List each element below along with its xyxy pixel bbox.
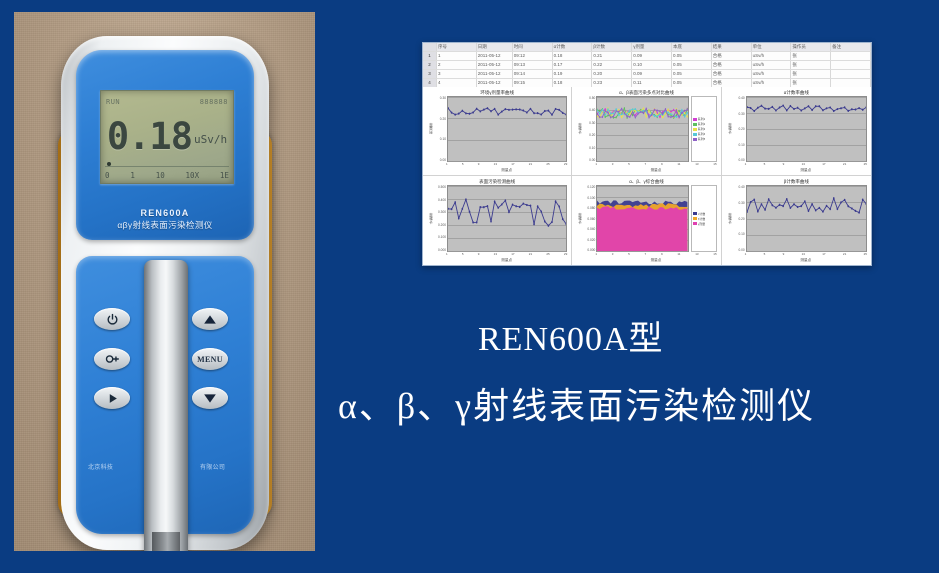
spreadsheet-header-cell: 日期 — [477, 43, 513, 51]
chart-data-point — [627, 115, 628, 117]
chart-data-point — [610, 116, 611, 118]
search-button[interactable] — [94, 348, 130, 370]
lcd-scale-tick: 1 — [130, 171, 135, 180]
chart-data-point — [472, 221, 474, 223]
chart-data-point — [662, 113, 663, 115]
spreadsheet-header-cell: γ剂量 — [632, 43, 672, 51]
chart-top-left[interactable]: 环境γ剂量率曲线剂量率0.300.200.100.001591317212529… — [423, 87, 572, 176]
chart-y-tick: 0.500 — [433, 185, 446, 189]
chart-x-axis-label: 测量点 — [726, 167, 867, 173]
chart-data-point — [649, 109, 650, 111]
chart-data-point — [843, 199, 845, 201]
chart-gridline — [747, 161, 866, 162]
chart-data-point — [825, 205, 827, 207]
chart-data-point — [854, 108, 856, 110]
chart-y-tick: 0.40 — [732, 185, 745, 189]
chart-data-point — [562, 218, 564, 220]
chart-y-tick: 0.10 — [582, 146, 595, 150]
chart-data-point — [775, 109, 777, 111]
chart-legend-label: γ剂量 — [698, 222, 706, 226]
spreadsheet-cell: uSv/h — [752, 70, 792, 78]
spreadsheet-cell: 合格 — [712, 70, 752, 78]
chart-data-point — [660, 110, 661, 112]
lcd-value: 0.18 — [107, 118, 192, 155]
chart-data-point — [684, 110, 685, 112]
chart-data-point — [753, 198, 755, 200]
chart-data-point — [822, 210, 824, 212]
chart-data-point — [454, 113, 456, 115]
spreadsheet-cell: 0.09 — [632, 52, 672, 60]
chart-data-point — [613, 112, 614, 114]
chart-data-point — [643, 109, 644, 111]
chart-data-point — [616, 108, 617, 110]
chart-data-point — [668, 115, 669, 117]
chart-x-axis-label: 测量点 — [576, 167, 716, 173]
power-button[interactable] — [94, 308, 130, 330]
chart-data-point — [458, 113, 460, 115]
device-handle-strip — [144, 260, 188, 551]
chart-data-point — [657, 109, 658, 111]
chart-data-point — [613, 115, 614, 117]
chart-y-tick: 0.300 — [433, 210, 446, 214]
chart-data-point — [825, 107, 827, 109]
chart-data-point — [605, 110, 606, 112]
spreadsheet-cell — [831, 79, 871, 87]
chart-y-tick: 0.30 — [433, 96, 446, 100]
power-icon — [106, 313, 119, 326]
chart-y-tick: 0.30 — [582, 121, 595, 125]
chart-data-point — [660, 113, 661, 115]
chart-legend-item: 系列4 — [693, 132, 715, 136]
chart-data-point — [472, 111, 474, 113]
spreadsheet-area: 序号日期时间α计数β计数γ剂量本底结果单位操作员备注112011-05-1209… — [423, 43, 871, 88]
chart-data-point — [836, 108, 838, 110]
chart-data-point — [602, 109, 603, 111]
chart-data-point — [665, 113, 666, 115]
chart-data-point — [757, 210, 759, 212]
chart-legend-label: 系列2 — [698, 122, 706, 126]
chart-legend-label: 系列3 — [698, 127, 706, 131]
spreadsheet-cell: 合格 — [712, 79, 752, 87]
chart-data-point — [512, 109, 514, 111]
chart-data-point — [822, 109, 824, 111]
menu-button[interactable]: MENU — [192, 348, 228, 370]
device-model-text: REN600A — [76, 208, 254, 218]
chart-y-ticks: 0.500.400.300.200.100.00 — [582, 96, 596, 162]
chart-y-tick: 0.40 — [732, 96, 745, 100]
chart-y-axis-label: 计数率 — [427, 185, 433, 252]
play-button[interactable] — [94, 387, 130, 409]
spreadsheet-row[interactable]: 222011-05-1209:130.170.220.100.05合格uSv/h… — [423, 61, 871, 70]
lcd-status-left: RUN — [106, 98, 120, 106]
chart-data-point — [682, 109, 683, 111]
chart-data-point — [632, 111, 633, 113]
lcd-status-bar: RUN 888888 — [106, 95, 228, 108]
spreadsheet-header-row[interactable]: 序号日期时间α计数β计数γ剂量本底结果单位操作员备注 — [423, 43, 871, 52]
chart-data-point — [621, 113, 622, 115]
chart-data-point — [505, 108, 507, 110]
spreadsheet-cell: 0.17 — [553, 61, 593, 69]
chart-y-ticks: 0.400.300.200.100.00 — [732, 96, 746, 162]
chart-data-point — [624, 112, 625, 114]
spreadsheet-header-cell: 操作员 — [791, 43, 831, 51]
chart-data-point — [836, 208, 838, 210]
spreadsheet-cell: 0.05 — [672, 52, 712, 60]
chart-data-point — [673, 109, 674, 111]
device-footer-left-text: 北京科技 — [88, 462, 113, 471]
spreadsheet-cell — [831, 61, 871, 69]
chart-data-point — [610, 112, 611, 114]
chart-data-point — [782, 104, 784, 106]
device-brand-print: REN600A αβγ射线表面污染检测仪 — [76, 208, 254, 231]
spreadsheet-cell: 09:13 — [513, 61, 553, 69]
chart-data-point — [749, 201, 751, 203]
chart-y-tick: 0.20 — [732, 127, 745, 131]
chart-data-point — [660, 116, 661, 118]
chart-bottom-middle[interactable]: α、β、γ综合曲线计数率0.1200.1000.0800.0600.0400.0… — [572, 176, 721, 265]
chart-legend-swatch — [693, 123, 697, 126]
spreadsheet-row[interactable]: 112011-05-1209:120.180.210.090.05合格uSv/h… — [423, 52, 871, 61]
down-button[interactable] — [192, 387, 228, 409]
chart-data-point — [505, 199, 507, 201]
chart-data-point — [764, 108, 766, 110]
chart-data-point — [508, 211, 510, 213]
chart-data-point — [526, 111, 528, 113]
chart-data-point — [462, 110, 464, 112]
triangle-up-icon — [203, 314, 217, 325]
chart-data-point — [624, 107, 625, 109]
chart-data-point — [469, 211, 471, 213]
chart-data-point — [512, 204, 514, 206]
chart-data-point — [789, 105, 791, 107]
chart-data-point — [483, 206, 485, 208]
chart-data-point — [487, 205, 489, 207]
spreadsheet-cell — [831, 52, 871, 60]
spreadsheet-header-cell: 备注 — [831, 43, 871, 51]
chart-y-axis-label: 计数率 — [726, 96, 732, 162]
spreadsheet-cell: 0.18 — [553, 52, 593, 60]
chart-data-point — [815, 209, 817, 211]
chart-data-point — [630, 116, 631, 118]
chart-legend: α计数β计数γ剂量 — [691, 185, 717, 252]
chart-legend-item: α计数 — [693, 212, 715, 216]
chart-body: 剂量率0.300.200.100.00 — [427, 96, 567, 162]
chart-plot-area — [596, 96, 688, 162]
up-button[interactable] — [192, 308, 228, 330]
chart-data-point — [793, 203, 795, 205]
chart-data-point — [851, 108, 853, 110]
chart-data-point — [501, 110, 503, 112]
charts-grid: 环境γ剂量率曲线剂量率0.300.200.100.001591317212529… — [423, 87, 871, 265]
chart-gridline — [597, 251, 687, 252]
spreadsheet-cell: 张 — [791, 79, 831, 87]
chart-data-point — [654, 109, 655, 111]
chart-legend-item: 系列3 — [693, 127, 715, 131]
chart-data-point — [608, 114, 609, 116]
chart-data-point — [829, 106, 831, 108]
chart-data-point — [476, 221, 478, 223]
spreadsheet-cell: 2011-05-12 — [477, 61, 513, 69]
chart-legend-item: 系列2 — [693, 122, 715, 126]
chart-data-point — [840, 107, 842, 109]
chart-legend-item: 系列1 — [693, 117, 715, 121]
chart-y-tick: 0.20 — [582, 133, 595, 137]
chart-y-tick: 0.30 — [732, 112, 745, 116]
title-block: REN600A型 α、β、γ射线表面污染检测仪 — [330, 318, 930, 434]
chart-data-point — [749, 107, 751, 109]
chart-gridline — [747, 251, 866, 252]
spreadsheet-cell: uSv/h — [752, 61, 792, 69]
chart-y-tick: 0.120 — [582, 185, 595, 189]
play-icon — [106, 392, 119, 405]
chart-data-point — [605, 116, 606, 118]
chart-legend: 系列1系列2系列3系列4系列5 — [691, 96, 717, 162]
lcd-scale-tick: 0 — [105, 171, 110, 180]
chart-data-point — [804, 107, 806, 109]
spreadsheet-cell: 0.19 — [553, 70, 593, 78]
chart-body: 计数率0.400.300.200.100.00 — [726, 96, 867, 162]
spreadsheet-header-cell: 序号 — [437, 43, 477, 51]
spreadsheet-cell: 0.05 — [672, 70, 712, 78]
chart-data-point — [646, 108, 647, 110]
spreadsheet-header-cell: α计数 — [553, 43, 593, 51]
chart-y-tick: 0.20 — [433, 117, 446, 121]
chart-data-point — [562, 112, 564, 114]
chart-legend-swatch — [693, 212, 697, 215]
chart-data-point — [654, 115, 655, 117]
chart-data-point — [548, 225, 550, 227]
chart-series-layer — [747, 186, 866, 251]
chart-data-point — [632, 108, 633, 110]
chart-data-point — [501, 203, 503, 205]
chart-data-point — [537, 205, 539, 207]
chart-data-point — [649, 116, 650, 118]
chart-data-point — [679, 110, 680, 112]
chart-data-point — [782, 205, 784, 207]
chart-data-point — [605, 114, 606, 116]
chart-y-tick: 0.020 — [582, 238, 595, 242]
chart-data-point — [851, 207, 853, 209]
chart-plot-area — [596, 185, 688, 252]
chart-legend-item: β计数 — [693, 217, 715, 221]
chart-data-point — [515, 205, 517, 207]
chart-y-tick: 0.080 — [582, 206, 595, 210]
chart-top-right[interactable]: α计数率曲线计数率0.400.300.200.100.0015913172125… — [722, 87, 871, 176]
chart-y-tick: 0.10 — [732, 143, 745, 147]
chart-data-point — [646, 116, 647, 118]
chart-plot-area — [447, 185, 567, 252]
chart-data-point — [847, 110, 849, 112]
chart-data-point — [760, 203, 762, 205]
chart-data-point — [519, 108, 521, 110]
chart-data-point — [476, 108, 478, 110]
chart-data-point — [682, 112, 683, 114]
chart-y-tick: 0.400 — [433, 198, 446, 202]
chart-data-point — [555, 200, 557, 202]
chart-series-layer — [747, 97, 866, 161]
chart-data-point — [800, 205, 802, 207]
chart-y-ticks: 0.5000.4000.3000.2000.1000.000 — [433, 185, 447, 252]
chart-data-point — [619, 114, 620, 116]
chart-legend-swatch — [693, 133, 697, 136]
chart-data-point — [616, 116, 617, 118]
chart-gridline — [597, 161, 687, 162]
spreadsheet-cell: 2011-05-12 — [477, 79, 513, 87]
chart-data-point — [599, 110, 600, 112]
product-description-title: α、β、γ射线表面污染检测仪 — [330, 378, 930, 434]
chart-data-point — [804, 200, 806, 202]
spreadsheet-header-cell: 单位 — [752, 43, 792, 51]
chart-data-point — [854, 210, 856, 212]
chart-data-point — [540, 113, 542, 115]
chart-data-point — [657, 115, 658, 117]
spreadsheet-row[interactable]: 332011-05-1209:140.190.200.090.05合格uSv/h… — [423, 70, 871, 79]
chart-data-point — [807, 105, 809, 107]
chart-y-tick: 0.10 — [433, 137, 446, 141]
chart-bottom-left[interactable]: 表面污染检测曲线计数率0.5000.4000.3000.2000.1000.00… — [423, 176, 572, 265]
chart-data-point — [638, 113, 639, 115]
chart-data-point — [448, 208, 449, 210]
spreadsheet-cell: 0.23 — [592, 79, 632, 87]
chart-data-point — [608, 111, 609, 113]
chart-area-series — [597, 206, 687, 251]
chart-data-point — [676, 116, 677, 118]
chart-data-point — [862, 109, 864, 111]
chart-data-point — [662, 116, 663, 118]
chart-data-point — [555, 108, 557, 110]
chart-data-point — [479, 206, 481, 208]
chart-plot-area — [746, 96, 867, 162]
chart-plot-area — [447, 96, 567, 162]
spreadsheet-header-cell: β计数 — [592, 43, 632, 51]
spreadsheet-row-index: 1 — [423, 52, 437, 60]
chart-data-point — [465, 198, 467, 200]
spreadsheet-cell: 4 — [437, 79, 477, 87]
chart-data-point — [508, 109, 510, 111]
chart-y-tick: 0.20 — [732, 217, 745, 221]
spreadsheet-cell: 0.18 — [553, 79, 593, 87]
chart-legend-label: 系列4 — [698, 132, 706, 136]
chart-data-point — [548, 110, 550, 112]
chart-legend-swatch — [693, 128, 697, 131]
chart-y-tick: 0.040 — [582, 227, 595, 231]
chart-data-point — [829, 208, 831, 210]
chart-top-middle[interactable]: α、β表面污染多点对比曲线计数率0.500.400.300.200.100.00… — [572, 87, 721, 176]
chart-y-tick: 0.100 — [433, 235, 446, 239]
chart-y-axis-label: 计数率 — [576, 96, 582, 162]
chart-series-layer — [448, 97, 566, 161]
spreadsheet-row-index: 4 — [423, 79, 437, 87]
chart-legend-swatch — [693, 217, 697, 220]
chart-data-point — [818, 105, 820, 107]
chart-bottom-right[interactable]: β计数率曲线计数率0.400.300.200.100.0015913172125… — [722, 176, 871, 265]
spreadsheet-cell: uSv/h — [752, 52, 792, 60]
chart-gridline — [448, 161, 566, 162]
chart-body: 计数率0.1200.1000.0800.0600.0400.0200.000α计… — [576, 185, 716, 252]
chart-y-tick: 0.50 — [582, 96, 595, 100]
chart-data-point — [454, 201, 456, 203]
chart-series-layer — [597, 186, 687, 251]
chart-legend-swatch — [693, 118, 697, 121]
chart-data-point — [771, 106, 773, 108]
device-footer-right-text: 有限公司 — [200, 462, 225, 471]
lcd-scale-tick: 10X — [186, 171, 200, 180]
chart-data-point — [621, 116, 622, 118]
chart-legend-label: 系列5 — [698, 137, 706, 141]
chart-data-point — [483, 108, 485, 110]
spreadsheet-cell: 0.05 — [672, 61, 712, 69]
chart-data-point — [515, 108, 517, 110]
spreadsheet-cell: uSv/h — [752, 79, 792, 87]
spreadsheet-cell: 0.11 — [632, 79, 672, 87]
chart-data-point — [632, 114, 633, 116]
chart-data-point — [599, 116, 600, 118]
chart-data-point — [537, 112, 539, 114]
chart-y-axis-label: 计数率 — [576, 185, 582, 252]
chart-data-point — [668, 111, 669, 113]
chart-legend-label: β计数 — [698, 217, 706, 221]
lcd-scale-ticks: 011010X1E — [105, 168, 229, 180]
chart-data-point — [469, 113, 471, 115]
chart-data-point — [490, 220, 492, 222]
product-photo: RUN 888888 0.18 uSv/h 011010X1E REN600A … — [14, 12, 315, 551]
chart-data-point — [764, 209, 766, 211]
chart-data-point — [665, 108, 666, 110]
chart-x-axis-label: 测量点 — [427, 257, 567, 263]
chart-data-point — [479, 110, 481, 112]
chart-data-point — [530, 205, 532, 207]
chart-data-point — [676, 109, 677, 111]
chart-data-point — [621, 108, 622, 110]
lcd-scale-tick: 10 — [156, 171, 165, 180]
spreadsheet-cell: 09:12 — [513, 52, 553, 60]
spreadsheet-cell: 0.22 — [592, 61, 632, 69]
chart-legend-label: α计数 — [698, 212, 706, 216]
chart-data-point — [768, 198, 770, 200]
chart-data-point — [811, 109, 813, 111]
spreadsheet-row-index — [423, 43, 437, 51]
chart-y-axis-label: 计数率 — [726, 185, 732, 252]
spreadsheet-cell: 张 — [791, 52, 831, 60]
chart-data-point — [818, 207, 820, 209]
slide-canvas: RUN 888888 0.18 uSv/h 011010X1E REN600A … — [0, 0, 939, 573]
chart-data-point — [526, 204, 528, 206]
chart-data-point — [630, 109, 631, 111]
chart-data-point — [627, 113, 628, 115]
chart-data-point — [757, 107, 759, 109]
chart-data-point — [605, 108, 606, 110]
chart-data-point — [551, 114, 553, 116]
chart-data-point — [640, 111, 641, 113]
chart-data-point — [847, 205, 849, 207]
chart-data-point — [789, 207, 791, 209]
chart-data-point — [771, 204, 773, 206]
chart-body: 计数率0.400.300.200.100.00 — [726, 185, 867, 252]
spreadsheet-cell: 合格 — [712, 52, 752, 60]
chart-data-point — [843, 106, 845, 108]
chart-data-point — [602, 116, 603, 118]
chart-data-point — [530, 108, 532, 110]
chart-legend-item: 系列5 — [693, 137, 715, 141]
chart-data-point — [522, 109, 524, 111]
chart-plot-area — [746, 185, 867, 252]
device-lcd-screen: RUN 888888 0.18 uSv/h 011010X1E — [100, 90, 234, 184]
chart-data-point — [800, 109, 802, 111]
chart-data-point — [679, 116, 680, 118]
lcd-scale-tick: 1E — [220, 171, 229, 180]
chart-data-point — [833, 110, 835, 112]
chart-data-point — [497, 113, 499, 115]
